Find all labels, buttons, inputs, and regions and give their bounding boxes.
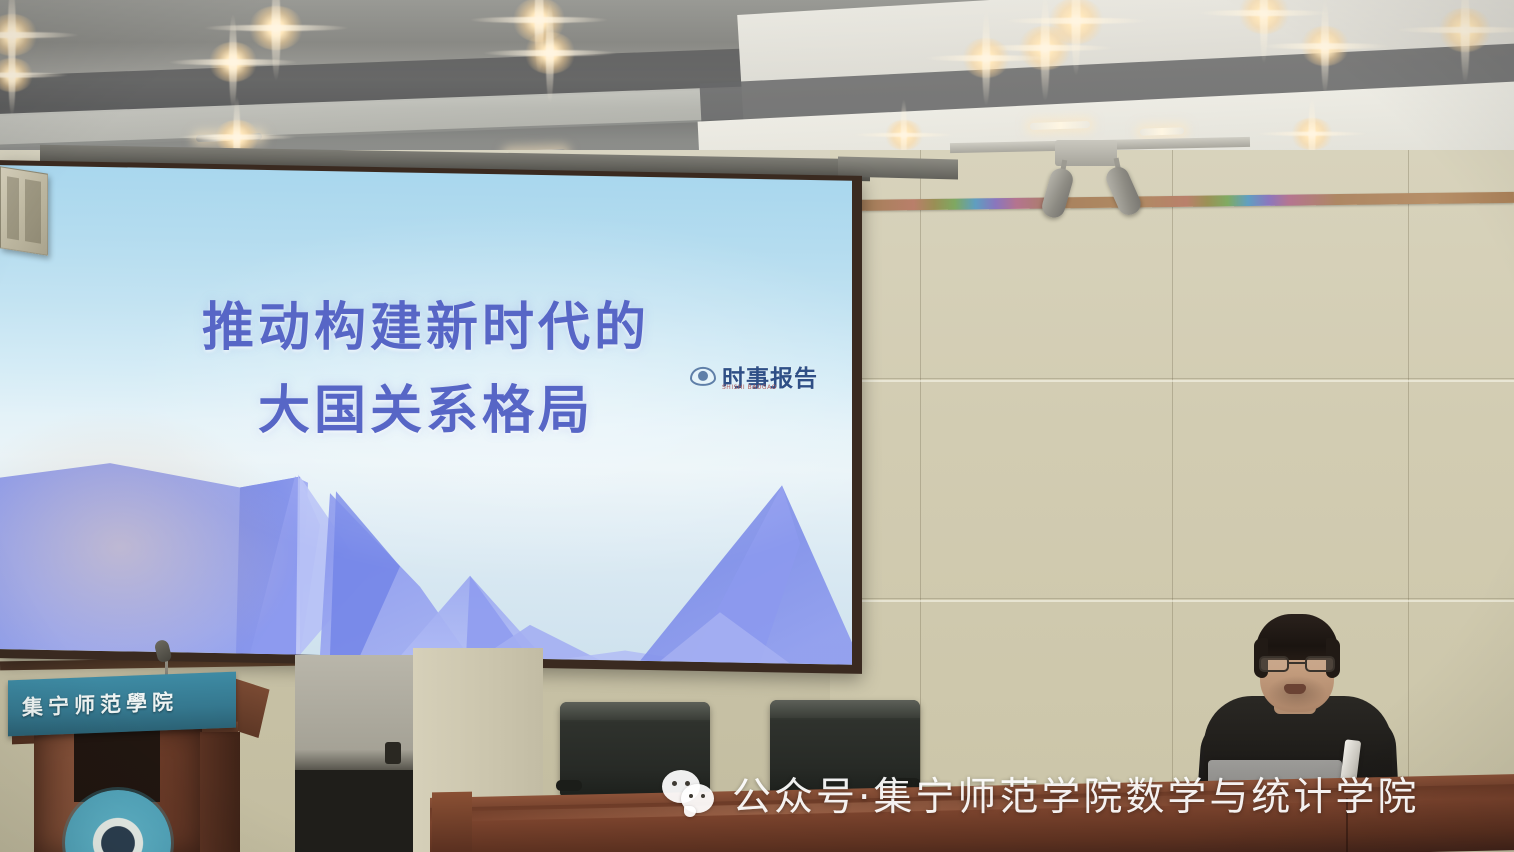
- table-left-edge: [432, 792, 472, 852]
- wall-seam: [830, 598, 1514, 599]
- watermark-text: 公众号·集宁师范学院数学与统计学院: [732, 766, 1419, 822]
- podium-side: [200, 732, 240, 852]
- wall-seam: [830, 380, 1514, 382]
- wall-recess-shadow: [295, 770, 413, 852]
- ceiling-downlight-icon: [1300, 26, 1350, 66]
- door-handle-icon: [385, 742, 401, 764]
- ceiling-downlight-icon: [1290, 118, 1334, 150]
- ceiling-downlight-icon: [1018, 26, 1072, 70]
- wechat-icon: [662, 770, 718, 818]
- glasses-bridge: [1289, 662, 1305, 664]
- projection-screen-frame: 时事报告 SHISHI BAOGAO 推动构建新时代的 大国关系格局: [0, 160, 862, 674]
- presenter-mouth: [1284, 684, 1306, 694]
- slide-title: 推动构建新时代的 大国关系格局: [0, 291, 852, 450]
- air-vent-icon: [0, 166, 48, 256]
- projection-screen: 时事报告 SHISHI BAOGAO 推动构建新时代的 大国关系格局: [0, 165, 852, 665]
- podium-sign-text: 集宁师范學院: [22, 684, 232, 722]
- slide-title-line-1: 推动构建新时代的: [0, 291, 852, 366]
- vent-slat: [7, 176, 19, 240]
- wall-seam: [920, 150, 921, 852]
- ceiling-downlight-icon: [884, 120, 924, 150]
- wechat-dot: [701, 794, 705, 798]
- ceiling-downlight-icon: [248, 6, 304, 50]
- wall-seam: [1172, 150, 1173, 852]
- ceiling-downlight-icon: [962, 38, 1010, 78]
- ceiling-downlight-icon: [0, 14, 38, 56]
- chair-headrest: [770, 700, 920, 718]
- wechat-watermark: 公众号·集宁师范学院数学与统计学院: [662, 766, 1419, 822]
- back-wall-right-panels: [830, 150, 1514, 852]
- ceiling-downlight-icon: [524, 32, 576, 74]
- slide-title-line-2: 大国关系格局: [0, 374, 852, 449]
- wechat-dot: [689, 794, 693, 798]
- glasses-lens-left: [1259, 656, 1289, 672]
- ceiling-downlight-icon: [1438, 8, 1492, 52]
- glasses-icon: [1258, 656, 1336, 672]
- lecture-hall-photo: 时事报告 SHISHI BAOGAO 推动构建新时代的 大国关系格局: [0, 0, 1514, 852]
- chair-arm: [556, 780, 582, 791]
- wall-seam: [1408, 150, 1409, 852]
- vent-slat: [25, 179, 41, 244]
- wechat-dot: [672, 781, 677, 786]
- wall-seam: [830, 600, 1514, 602]
- ceiling-downlight-icon: [208, 42, 258, 82]
- podium-sign: 集宁师范學院: [8, 672, 236, 737]
- wall-seam: [830, 378, 1514, 379]
- chair-headrest: [560, 702, 710, 720]
- wechat-bubble-tail: [684, 806, 696, 817]
- glasses-lens-right: [1305, 656, 1335, 672]
